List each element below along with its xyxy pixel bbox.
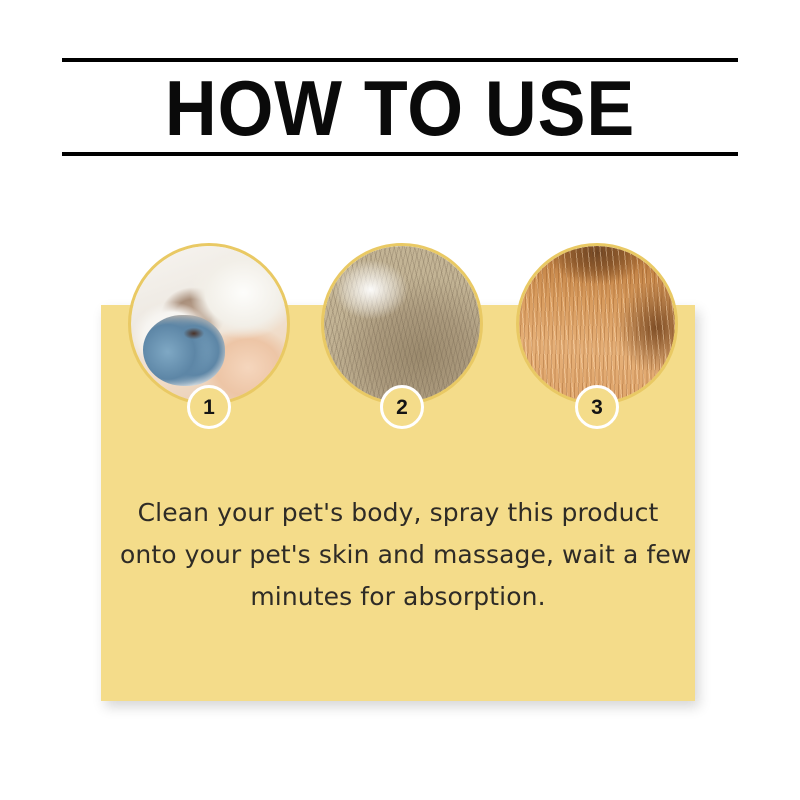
instruction-line: minutes for absorption. — [120, 576, 676, 618]
steps-row: 1 2 3 — [0, 243, 800, 433]
header: HOW TO USE — [62, 58, 738, 156]
step-thumbnail — [128, 243, 290, 405]
instruction-line: Clean your pet's body, spray this produc… — [120, 492, 676, 534]
step-number-badge: 2 — [380, 385, 424, 429]
spray-on-fur-photo — [324, 246, 480, 402]
page-title: HOW TO USE — [89, 62, 711, 152]
step-item: 1 — [128, 243, 290, 433]
cat-being-wiped-photo — [131, 246, 287, 402]
step-item: 3 — [516, 243, 678, 433]
ginger-fur-photo — [519, 246, 675, 402]
step-number-badge: 3 — [575, 385, 619, 429]
header-rule-bottom — [62, 152, 738, 156]
step-thumbnail — [321, 243, 483, 405]
step-thumbnail — [516, 243, 678, 405]
step-number-badge: 1 — [187, 385, 231, 429]
instruction-line: onto your pet's skin and massage, wait a… — [120, 534, 676, 576]
instruction-text: Clean your pet's body, spray this produc… — [120, 492, 676, 618]
step-item: 2 — [321, 243, 483, 433]
